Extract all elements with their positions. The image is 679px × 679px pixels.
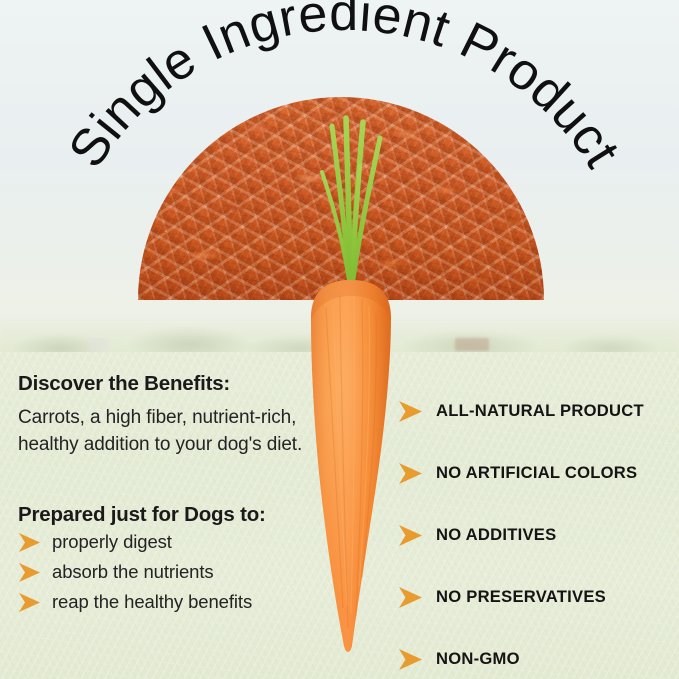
claim-label: NO ADDITIVES bbox=[436, 525, 556, 545]
product-infographic: Single Ingredient Product bbox=[0, 0, 679, 679]
carrot-greens bbox=[322, 118, 380, 294]
benefits-body: Carrots, a high fiber, nutrient-rich, he… bbox=[18, 405, 318, 459]
prepared-item-label: properly digest bbox=[52, 533, 172, 552]
arrow-right-icon bbox=[398, 525, 423, 546]
prepared-item-label: absorb the nutrients bbox=[52, 563, 214, 582]
list-item: NO PRESERVATIVES bbox=[398, 566, 670, 628]
claim-label: NO ARTIFICIAL COLORS bbox=[436, 463, 637, 483]
claims-list: ALL-NATURAL PRODUCT NO ARTIFICIAL COLORS… bbox=[398, 380, 670, 679]
left-content-column: Discover the Benefits: Carrots, a high f… bbox=[18, 372, 318, 623]
list-item: ALL-NATURAL PRODUCT bbox=[398, 380, 670, 442]
arrow-right-icon bbox=[398, 463, 423, 484]
list-item: NO ARTIFICIAL COLORS bbox=[398, 442, 670, 504]
arrow-right-icon bbox=[18, 563, 41, 582]
claim-label: ALL-NATURAL PRODUCT bbox=[436, 401, 644, 421]
prepared-item-label: reap the healthy benefits bbox=[52, 593, 252, 612]
arrow-right-icon bbox=[398, 649, 423, 670]
prepared-heading: Prepared just for Dogs to: bbox=[18, 503, 318, 528]
list-item: properly digest bbox=[18, 533, 318, 552]
claim-label: NO PRESERVATIVES bbox=[436, 587, 606, 607]
arrow-right-icon bbox=[398, 587, 423, 608]
arrow-right-icon bbox=[398, 401, 423, 422]
prepared-list: properly digest absorb the nutrients rea… bbox=[18, 533, 318, 612]
claim-label: NON-GMO bbox=[436, 649, 520, 669]
arrow-right-icon bbox=[18, 593, 41, 612]
benefits-heading: Discover the Benefits: bbox=[18, 372, 318, 397]
list-item: NO ADDITIVES bbox=[398, 504, 670, 566]
list-item: reap the healthy benefits bbox=[18, 593, 318, 612]
list-item: NON-GMO bbox=[398, 628, 670, 679]
list-item: absorb the nutrients bbox=[18, 563, 318, 582]
arrow-right-icon bbox=[18, 533, 41, 552]
right-claims-column: ALL-NATURAL PRODUCT NO ARTIFICIAL COLORS… bbox=[398, 380, 670, 679]
